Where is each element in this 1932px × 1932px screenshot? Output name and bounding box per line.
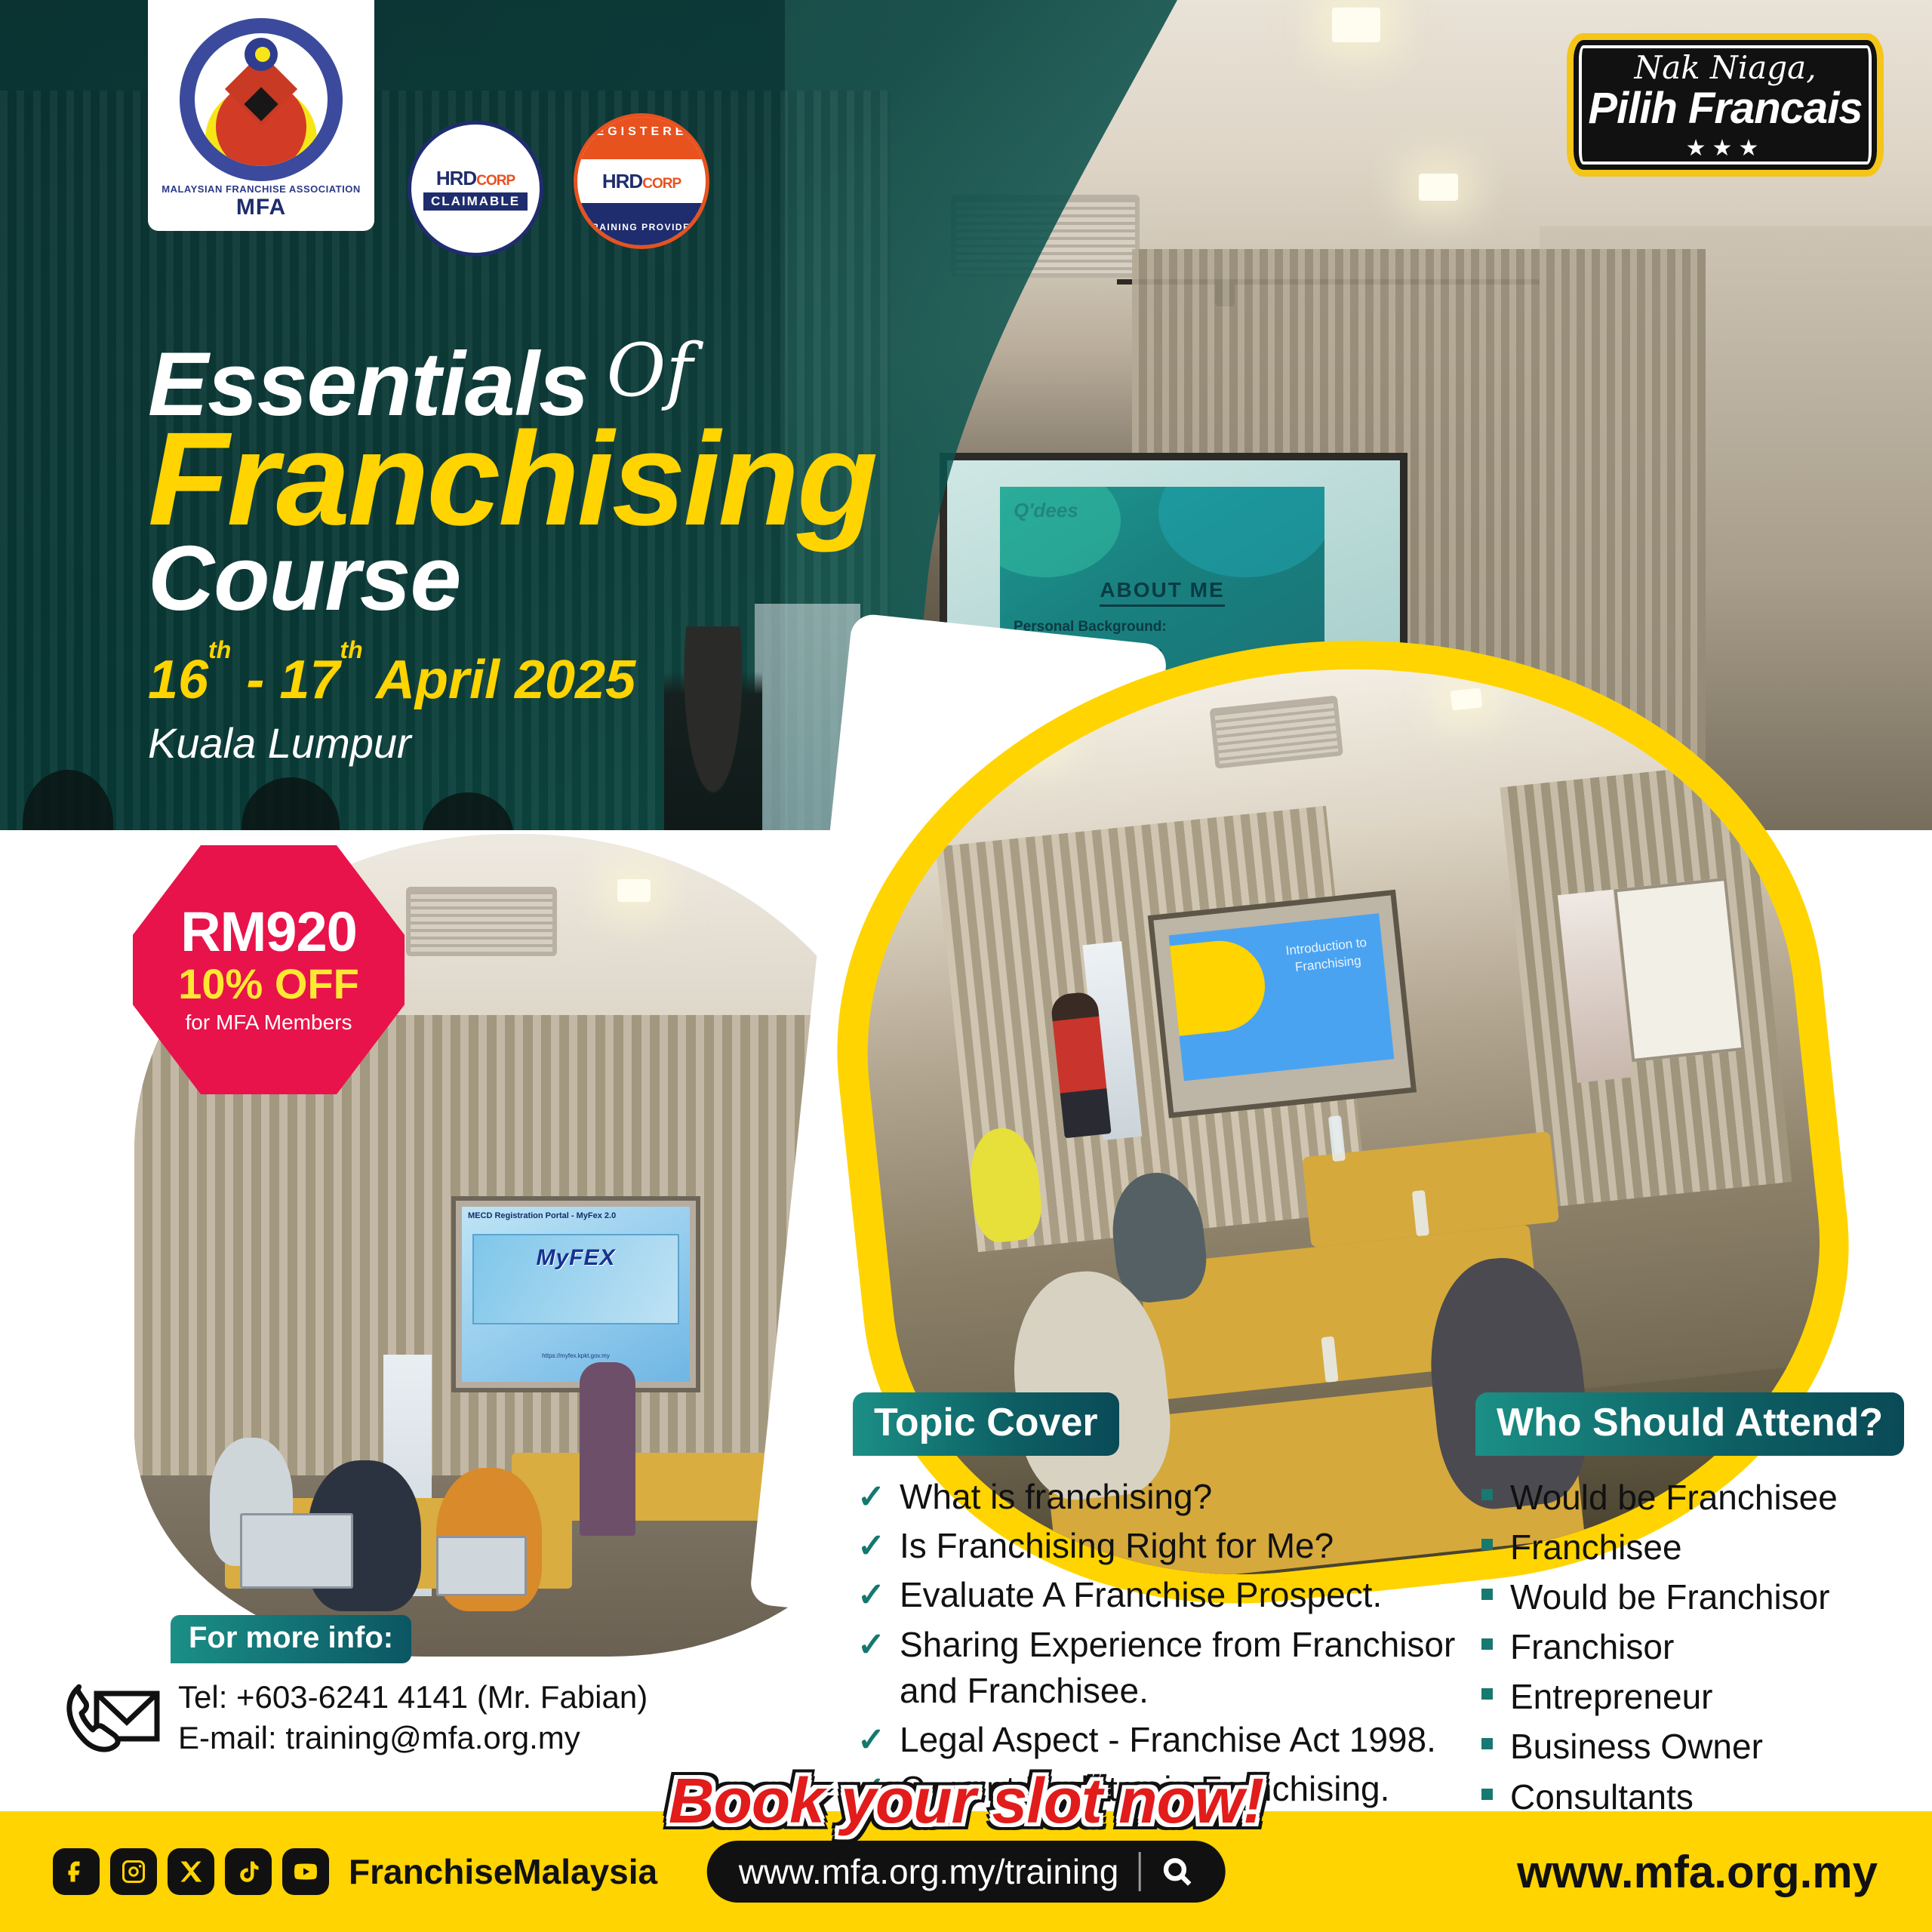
who-should-attend-section: Who Should Attend? Would be Franchisee F… <box>1475 1392 1928 1823</box>
check-icon: ✓ <box>857 1524 885 1569</box>
topic-item: ✓What is franchising? <box>853 1474 1487 1520</box>
check-icon: ✓ <box>857 1623 885 1668</box>
attendee-item: Would be Franchisee <box>1475 1474 1928 1521</box>
topic-label: Is Franchising Right for Me? <box>900 1526 1334 1565</box>
mfa-emblem <box>180 18 343 181</box>
youtube-icon[interactable] <box>282 1848 329 1895</box>
topic-label: What is franchising? <box>900 1477 1212 1516</box>
claimable-band: CLAIMABLE <box>423 192 528 211</box>
ac-vent <box>406 887 557 956</box>
myfex-wordmark: MyFEX <box>474 1235 678 1281</box>
date-day-start: 16 <box>148 650 208 710</box>
check-icon: ✓ <box>857 1574 885 1618</box>
mfa-abbreviation: MFA <box>236 195 286 220</box>
ceiling-light <box>1419 174 1458 201</box>
social-handle: FranchiseMalaysia <box>349 1851 657 1892</box>
topic-label: Evaluate A Franchise Prospect. <box>900 1575 1382 1614</box>
phone-envelope-icon <box>57 1677 163 1760</box>
contact-email[interactable]: E-mail: training@mfa.org.my <box>178 1718 648 1758</box>
bullet-square-icon <box>1481 1539 1493 1550</box>
flipchart <box>1614 878 1744 1062</box>
attendee-item: Franchisee <box>1475 1524 1928 1571</box>
ceiling-light <box>617 879 651 902</box>
training-url-text: www.mfa.org.my/training <box>739 1851 1119 1892</box>
check-icon: ✓ <box>857 1475 885 1520</box>
registered-arc-label: REGISTERED <box>577 117 706 159</box>
myfex-banner: MyFEX <box>472 1234 679 1324</box>
topic-label: Legal Aspect - Franchise Act 1998. <box>900 1720 1436 1759</box>
myfex-slide: MECD Registration Portal - MyFex 2.0 MyF… <box>462 1207 690 1382</box>
topic-item: ✓Legal Aspect - Franchise Act 1998. <box>853 1717 1487 1763</box>
facebook-icon[interactable] <box>53 1848 100 1895</box>
for-more-info-heading: For more info: <box>171 1615 411 1663</box>
topic-cover-section: Topic Cover ✓What is franchising? ✓Is Fr… <box>853 1392 1487 1815</box>
nak-niaga-campaign-badge: Nak Niaga, Pilih Francais ★★★ <box>1567 33 1884 177</box>
bullet-square-icon <box>1481 1738 1493 1749</box>
date-sup-start: th <box>208 636 231 663</box>
contact-section: For more info: Tel: +603-6241 4141 (Mr. … <box>171 1615 648 1758</box>
price-amount: RM920 <box>180 904 357 960</box>
hrd-wordmark: HRDCORP <box>436 167 515 190</box>
attendee-item: Entrepreneur <box>1475 1673 1928 1720</box>
campaign-stars: ★★★ <box>1686 135 1765 162</box>
hrd-text: HRD <box>436 167 476 189</box>
campaign-line-2: Pilih Francais <box>1588 83 1862 134</box>
bullet-square-icon <box>1481 1589 1493 1600</box>
laptop <box>240 1513 353 1589</box>
attendee-item: Franchisor <box>1475 1623 1928 1670</box>
slide-title: ABOUT ME <box>1100 578 1224 607</box>
date-month-year: April 2025 <box>376 650 635 710</box>
price-qualifier: for MFA Members <box>186 1010 352 1035</box>
hrd-wordmark: HRDCORP <box>602 170 681 193</box>
slide-subtitle: Personal Background: <box>1014 619 1311 635</box>
training-url-pill[interactable]: www.mfa.org.my/training <box>707 1841 1226 1903</box>
mfa-logo-text: MALAYSIAN FRANCHISE ASSOCIATION <box>162 184 360 195</box>
bullet-square-icon <box>1481 1489 1493 1500</box>
social-icon-row <box>53 1848 329 1895</box>
date-separator: - <box>246 650 264 710</box>
projector-screen: MECD Registration Portal - MyFex 2.0 MyF… <box>451 1196 700 1392</box>
attendee-label: Business Owner <box>1510 1727 1763 1766</box>
tiktok-icon[interactable] <box>225 1848 272 1895</box>
conference-table <box>512 1453 783 1521</box>
title-of: Of <box>607 328 693 413</box>
bullet-square-icon <box>1481 1688 1493 1700</box>
projector-screen: Introduction to Franchising <box>1148 890 1417 1118</box>
ceiling-light <box>1022 728 1054 751</box>
campaign-line-1: Nak Niaga, <box>1634 49 1816 86</box>
attendee-label: Entrepreneur <box>1510 1677 1713 1716</box>
laptop <box>436 1536 527 1596</box>
slide-caption: MECD Registration Portal - MyFex 2.0 <box>462 1207 690 1225</box>
date-day-end: 17 <box>279 650 340 710</box>
price-discount: 10% OFF <box>178 960 359 1008</box>
main-website-url[interactable]: www.mfa.org.my <box>1517 1846 1878 1898</box>
slide-yellow-shape <box>1170 937 1269 1036</box>
instagram-icon[interactable] <box>110 1848 157 1895</box>
intro-franchising-slide: Introduction to Franchising <box>1169 913 1395 1081</box>
attendee-label: Franchisee <box>1510 1527 1682 1567</box>
ceiling-light <box>1332 8 1380 42</box>
who-should-attend-heading: Who Should Attend? <box>1475 1392 1904 1456</box>
topic-cover-heading: Topic Cover <box>853 1392 1119 1456</box>
attendee-item: Business Owner <box>1475 1723 1928 1770</box>
title-franchising: Franchising <box>148 419 1038 541</box>
topic-item: ✓Is Franchising Right for Me? <box>853 1523 1487 1569</box>
attendee-label: Would be Franchisee <box>1510 1478 1838 1517</box>
attendee-item: Would be Franchisor <box>1475 1574 1928 1620</box>
presenter <box>580 1362 635 1536</box>
hrd-text: HRD <box>602 170 642 192</box>
emblem-star <box>255 47 270 62</box>
price-badge: RM920 10% OFF for MFA Members <box>133 845 405 1094</box>
slide-title: Introduction to Franchising <box>1276 934 1379 978</box>
corp-text: CORP <box>642 176 681 192</box>
topic-list: ✓What is franchising? ✓Is Franchising Ri… <box>853 1474 1487 1812</box>
topic-item: ✓Sharing Experience from Franchisor and … <box>853 1622 1487 1714</box>
topic-label: Sharing Experience from Franchisor and F… <box>900 1625 1455 1710</box>
mfa-emblem-inner <box>195 33 328 166</box>
pill-divider <box>1138 1852 1140 1891</box>
book-slot-cta[interactable]: Book your slot now! <box>0 1764 1932 1838</box>
contact-telephone[interactable]: Tel: +603-6241 4141 (Mr. Fabian) <box>178 1677 648 1718</box>
slide-url: https://myfex.kpkt.gov.my <box>462 1352 690 1359</box>
check-icon: ✓ <box>857 1718 885 1763</box>
ceiling-light <box>1451 688 1482 710</box>
bullet-square-icon <box>1481 1638 1493 1650</box>
search-icon <box>1160 1855 1193 1888</box>
hrdcorp-registered-training-provider-badge: REGISTERED HRDCORP TRAINING PROVIDER <box>574 113 709 249</box>
hrdcorp-claimable-badge: HRDCORP CLAIMABLE <box>408 121 543 257</box>
attendee-label: Franchisor <box>1510 1627 1674 1666</box>
mfa-logo-card: MALAYSIAN FRANCHISE ASSOCIATION MFA <box>148 0 374 231</box>
poster-canvas: Q'dees ABOUT ME Personal Background: Ear… <box>0 0 1932 1932</box>
contact-lines: Tel: +603-6241 4141 (Mr. Fabian) E-mail:… <box>171 1677 648 1758</box>
topic-item: ✓Evaluate A Franchise Prospect. <box>853 1572 1487 1618</box>
corp-text: CORP <box>476 173 515 189</box>
attendee-label: Would be Franchisor <box>1510 1577 1830 1617</box>
date-sup-end: th <box>340 636 362 663</box>
x-twitter-icon[interactable] <box>168 1848 214 1895</box>
